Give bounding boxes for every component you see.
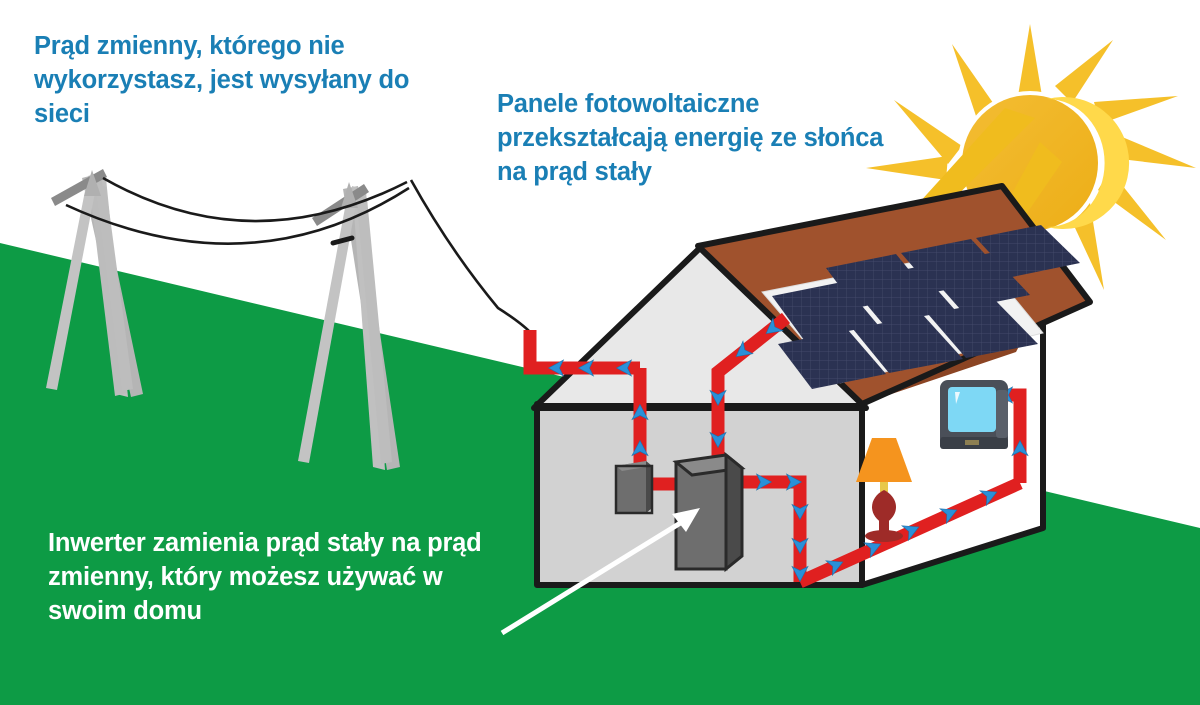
television (940, 380, 1008, 449)
meter-box (616, 461, 652, 513)
lamp-foot (865, 530, 903, 542)
tv-speaker (996, 390, 1008, 438)
infographic-canvas: Prąd zmienny, którego nie wykorzystasz, … (0, 0, 1200, 705)
solar-diagram-illustration (0, 0, 1200, 705)
